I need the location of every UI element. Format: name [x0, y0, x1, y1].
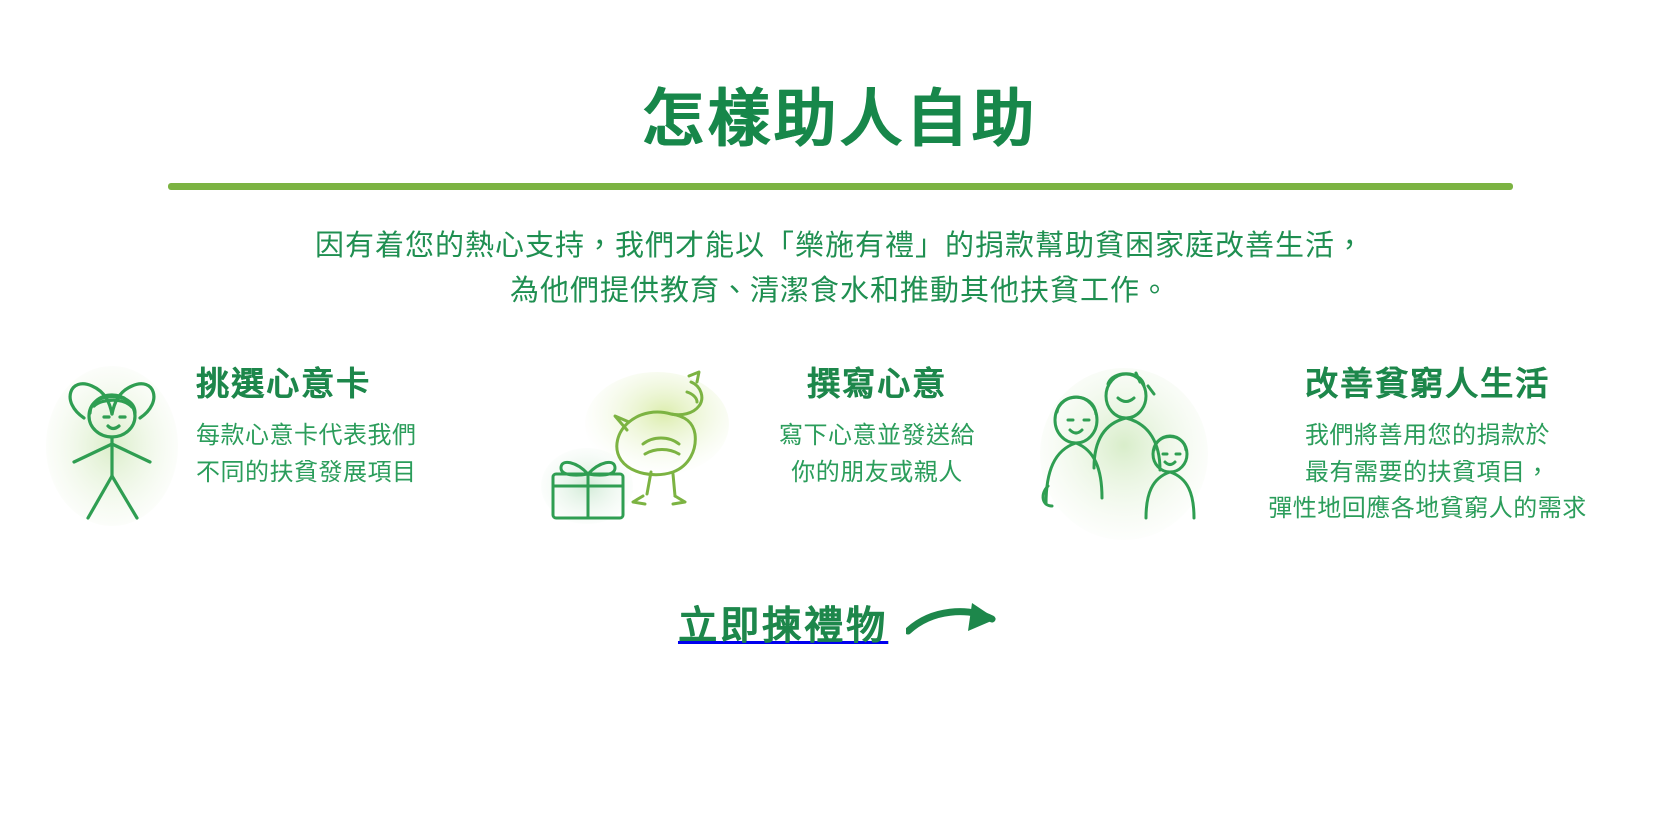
step-card-1: 挑選心意卡 每款心意卡代表我們 不同的扶貧發展項目 [40, 358, 510, 533]
chicken-and-gift-sketch-icon [539, 358, 739, 533]
step-1-text: 挑選心意卡 每款心意卡代表我們 不同的扶貧發展項目 [196, 358, 510, 491]
step-1-body-line-1: 每款心意卡代表我們 [196, 418, 510, 454]
family-portrait-sketch-icon [1032, 358, 1217, 533]
step-1-body-line-2: 不同的扶貧發展項目 [196, 455, 510, 491]
step-3-text: 改善貧窮人生活 我們將善用您的捐款於 最有需要的扶貧項目， 彈性地回應各地貧窮人… [1223, 358, 1632, 528]
steps-row: 挑選心意卡 每款心意卡代表我們 不同的扶貧發展項目 [0, 358, 1680, 533]
step-2-heading: 撰寫心意 [745, 366, 1009, 402]
promo-page: 怎樣助人自助 因有着您的熱心支持，我們才能以「樂施有禮」的捐款幫助貧困家庭改善生… [0, 0, 1680, 840]
step-2-body-line-1: 寫下心意並發送給 [745, 418, 1009, 454]
page-header: 怎樣助人自助 [0, 0, 1680, 190]
step-1-heading: 挑選心意卡 [196, 366, 510, 402]
step-3-body-line-2: 最有需要的扶貧項目， [1223, 455, 1632, 491]
intro-line-1: 因有着您的熱心支持，我們才能以「樂施有禮」的捐款幫助貧困家庭改善生活， [190, 224, 1490, 269]
step-2-body: 寫下心意並發送給 你的朋友或親人 [745, 418, 1009, 491]
step-2-text: 撰寫心意 寫下心意並發送給 你的朋友或親人 [745, 358, 1009, 491]
step-3-body-line-3: 彈性地回應各地貧窮人的需求 [1223, 491, 1632, 527]
title-divider [168, 183, 1513, 190]
step-3-body-line-1: 我們將善用您的捐款於 [1223, 418, 1632, 454]
intro-line-2: 為他們提供教育、清潔食水和推動其他扶貧工作。 [190, 269, 1490, 314]
step-card-2: 撰寫心意 寫下心意並發送給 你的朋友或親人 [539, 358, 1009, 533]
pick-gift-button[interactable]: 立即揀禮物 [670, 591, 1010, 655]
step-1-body: 每款心意卡代表我們 不同的扶貧發展項目 [196, 418, 510, 491]
ribbon-person-sketch-icon [40, 358, 190, 533]
step-card-3: 改善貧窮人生活 我們將善用您的捐款於 最有需要的扶貧項目， 彈性地回應各地貧窮人… [1032, 358, 1632, 533]
step-3-body: 我們將善用您的捐款於 最有需要的扶貧項目， 彈性地回應各地貧窮人的需求 [1223, 418, 1632, 527]
intro-paragraph: 因有着您的熱心支持，我們才能以「樂施有禮」的捐款幫助貧困家庭改善生活， 為他們提… [190, 224, 1490, 314]
cta-row: 立即揀禮物 [0, 591, 1680, 655]
page-title: 怎樣助人自助 [0, 86, 1680, 151]
cta-label: 立即揀禮物 [678, 595, 888, 651]
step-2-body-line-2: 你的朋友或親人 [745, 455, 1009, 491]
right-arrow-icon [906, 597, 1002, 648]
step-3-heading: 改善貧窮人生活 [1223, 366, 1632, 402]
